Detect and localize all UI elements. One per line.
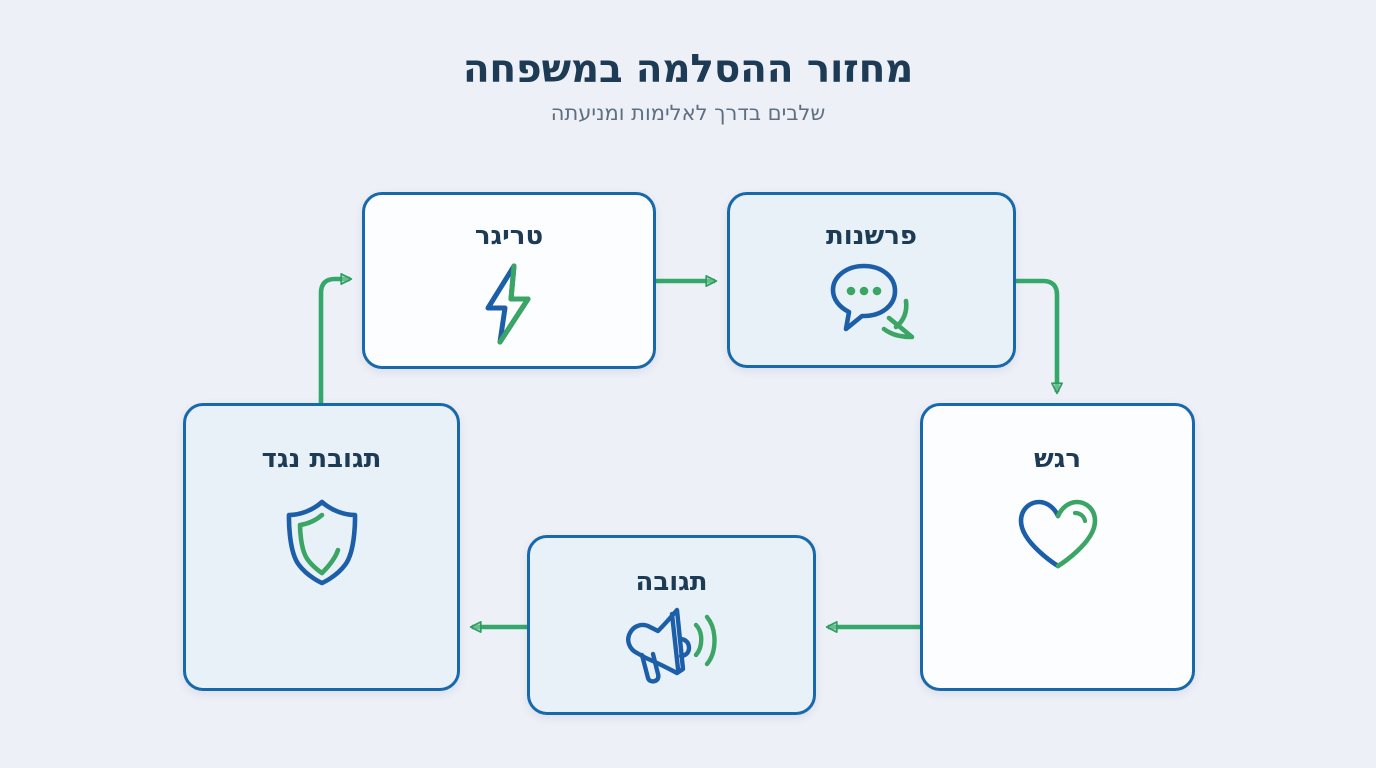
node-counter-label: תגובת נגד (186, 444, 457, 474)
node-trigger-label: טריגר (365, 221, 653, 251)
page-subtitle: שלבים בדרך לאלימות ומניעתה (0, 101, 1376, 125)
shield-icon (283, 496, 361, 588)
node-counter[interactable]: תגובת נגד (183, 403, 460, 691)
heart-icon (1014, 496, 1102, 574)
node-emotion-label: רגש (923, 444, 1192, 474)
edge-interpretation-to-emotion (1016, 281, 1057, 392)
node-reaction[interactable]: תגובה (527, 535, 816, 715)
speech-bubble-icon (826, 259, 918, 343)
node-interpretation[interactable]: פרשנות (727, 192, 1016, 368)
page-title: מחזור ההסלמה במשפחה (0, 48, 1376, 92)
node-reaction-label: תגובה (530, 567, 813, 597)
diagram-canvas: מחזור ההסלמה במשפחה שלבים בדרך לאלימות ו… (0, 0, 1376, 768)
edge-counter-to-trigger (321, 279, 350, 403)
node-interpretation-label: פרשנות (730, 221, 1013, 251)
header: מחזור ההסלמה במשפחה שלבים בדרך לאלימות ו… (0, 48, 1376, 125)
node-emotion[interactable]: רגש (920, 403, 1195, 691)
megaphone-icon (620, 603, 724, 685)
lightning-bolt-icon (472, 261, 546, 347)
node-trigger[interactable]: טריגר (362, 192, 656, 369)
